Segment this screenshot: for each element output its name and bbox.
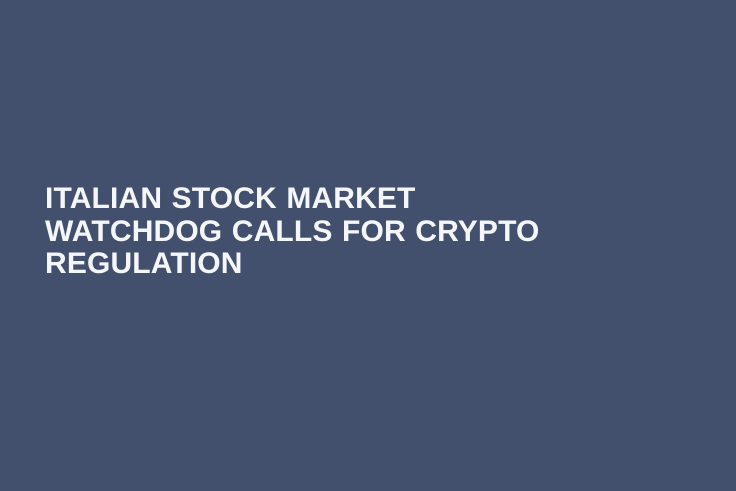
page-title: ITALIAN STOCK MARKET WATCHDOG CALLS FOR … (45, 183, 665, 281)
headline-block: ITALIAN STOCK MARKET WATCHDOG CALLS FOR … (45, 183, 665, 281)
headline-line-2: WATCHDOG CALLS FOR CRYPTO (45, 216, 665, 249)
hero-banner: ITALIAN STOCK MARKET WATCHDOG CALLS FOR … (0, 0, 736, 491)
headline-line-1: ITALIAN STOCK MARKET (45, 183, 665, 216)
headline-line-3: REGULATION (45, 248, 665, 281)
